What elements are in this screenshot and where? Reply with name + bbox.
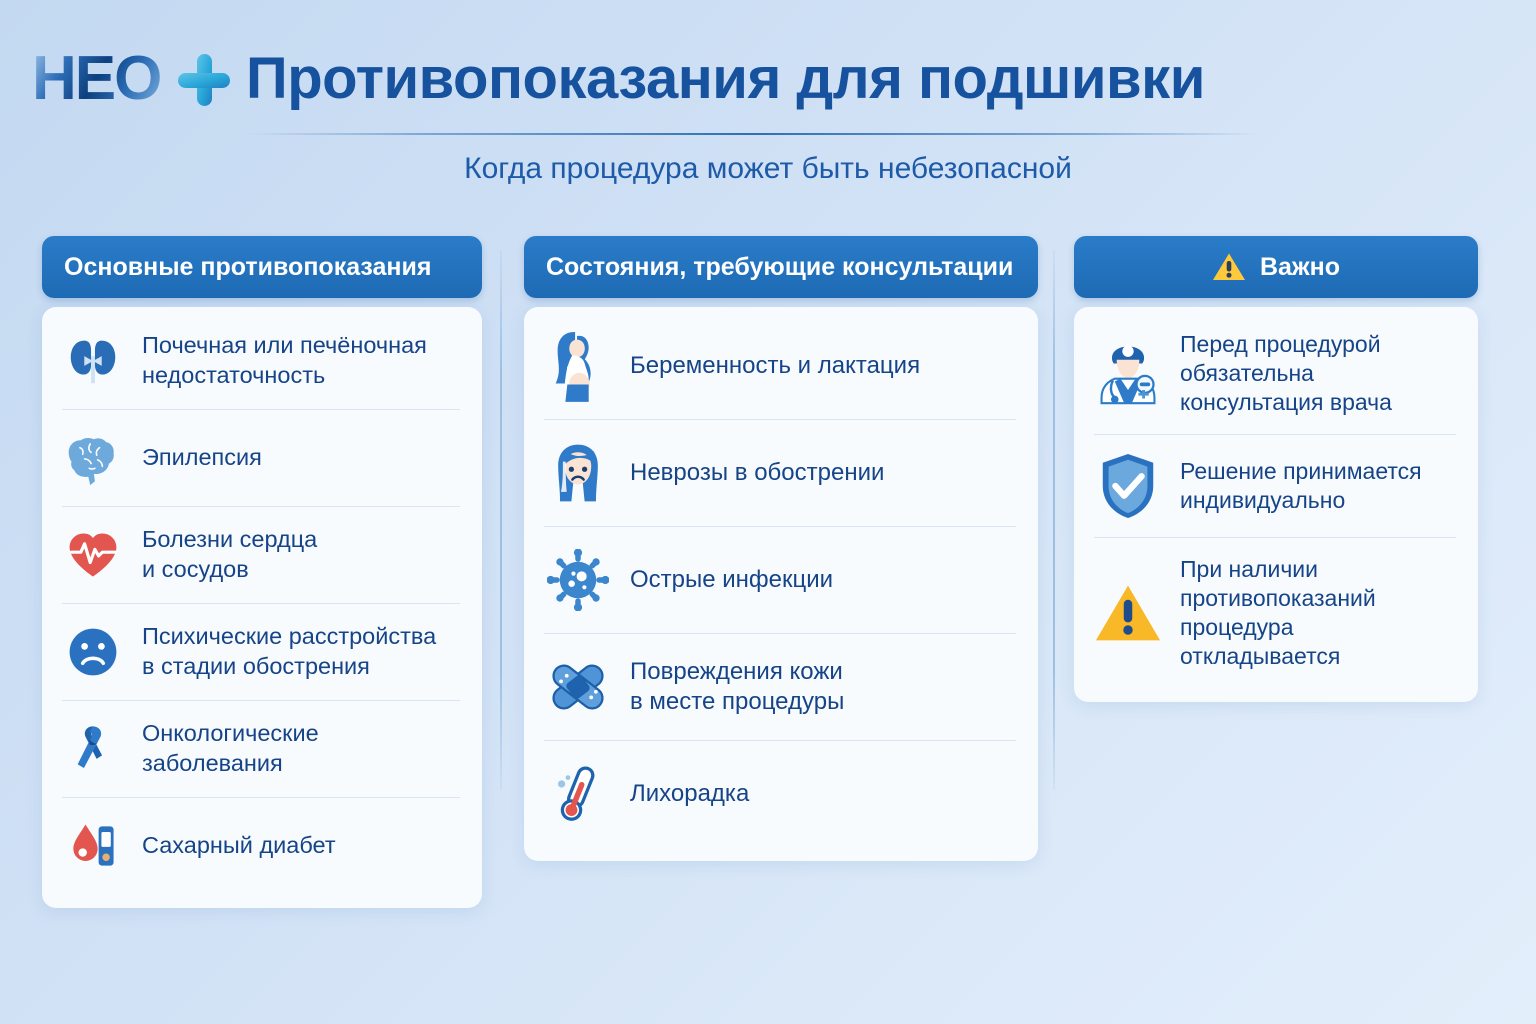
list-item-label: Болезни сердца и сосудов [142, 525, 317, 584]
title-divider [248, 133, 1258, 135]
page-subtitle: Когда процедура может быть небезопасной [0, 152, 1536, 186]
list-item[interactable]: Беременность и лактация [544, 313, 1016, 420]
thermometer-icon [544, 758, 612, 830]
column-header-label: Важно [1260, 253, 1340, 282]
list-item-label: Острые инфекции [630, 565, 833, 595]
list-item-label: Сахарный диабет [142, 831, 336, 861]
column-header-important: Важно [1074, 236, 1478, 298]
bandage-icon [544, 651, 612, 723]
sad-woman-icon [544, 437, 612, 509]
page-header: НЕО Противопоказания для подшивки Когда … [0, 0, 1536, 210]
list-item-label: Неврозы в обострении [630, 458, 884, 488]
list-item[interactable]: Психические расстройства в стадии обостр… [62, 604, 460, 701]
list-item-label: Лихорадка [630, 779, 749, 809]
sad-face-icon [62, 621, 124, 683]
doctor-icon [1094, 339, 1162, 407]
page-title: Противопоказания для подшивки [246, 45, 1205, 112]
list-item-label: Перед процедурой обязательна консультаци… [1180, 330, 1454, 417]
list-item[interactable]: Лихорадка [544, 741, 1016, 847]
column-divider-1 [500, 250, 502, 790]
column-header-label: Состояния, требующие консультации [546, 253, 1013, 282]
column-body-main: Почечная или печёночная недостаточность … [42, 307, 482, 908]
list-item-label: При наличии противопоказаний процедура о… [1180, 555, 1454, 671]
list-item[interactable]: При наличии противопоказаний процедура о… [1094, 538, 1456, 688]
list-item-label: Психические расстройства в стадии обостр… [142, 622, 436, 681]
list-item-label: Беременность и лактация [630, 351, 920, 381]
warning-triangle-icon [1212, 252, 1246, 282]
heart-pulse-icon [62, 524, 124, 586]
list-item[interactable]: Сахарный диабет [62, 798, 460, 894]
brain-icon [62, 427, 124, 489]
list-item[interactable]: Почечная или печёночная недостаточность [62, 313, 460, 410]
column-header-main: Основные противопоказания [42, 236, 482, 298]
list-item-label: Повреждения кожи в месте процедуры [630, 657, 844, 717]
column-header-consultation: Состояния, требующие консультации [524, 236, 1038, 298]
awareness-ribbon-icon [62, 718, 124, 780]
list-item[interactable]: Перед процедурой обязательна консультаци… [1094, 313, 1456, 435]
list-item-label: Почечная или печёночная недостаточность [142, 331, 458, 390]
blood-drop-glucometer-icon [62, 815, 124, 877]
list-item[interactable]: Онкологические заболевания [62, 701, 460, 798]
list-item[interactable]: Неврозы в обострении [544, 420, 1016, 527]
list-item-label: Решение принимается индивидуально [1180, 457, 1454, 515]
column-conditions-requiring-consultation: Состояния, требующие консультации Береме… [524, 236, 1038, 861]
kidneys-icon [62, 330, 124, 392]
column-header-label: Основные противопоказания [64, 253, 431, 282]
list-item[interactable]: Эпилепсия [62, 410, 460, 507]
list-item-label: Онкологические заболевания [142, 719, 458, 778]
warning-triangle-icon [1094, 579, 1162, 647]
list-item[interactable]: Острые инфекции [544, 527, 1016, 634]
list-item-label: Эпилепсия [142, 443, 262, 473]
list-item[interactable]: Болезни сердца и сосудов [62, 507, 460, 604]
column-important: Важно [1074, 236, 1478, 702]
list-item[interactable]: Повреждения кожи в месте процедуры [544, 634, 1016, 741]
column-body-important: Перед процедурой обязательна консультаци… [1074, 307, 1478, 702]
virus-icon [544, 544, 612, 616]
brand-logo: НЕО [32, 48, 160, 110]
pregnant-woman-icon [544, 330, 612, 402]
shield-check-icon [1094, 452, 1162, 520]
column-body-consultation: Беременность и лактация Неврозы в обостр… [524, 307, 1038, 861]
list-item[interactable]: Решение принимается индивидуально [1094, 435, 1456, 538]
column-divider-2 [1053, 250, 1055, 790]
columns-board: Основные противопоказания Почечная или п… [0, 236, 1536, 936]
column-main-contraindications: Основные противопоказания Почечная или п… [42, 236, 482, 908]
plus-icon [176, 52, 232, 108]
